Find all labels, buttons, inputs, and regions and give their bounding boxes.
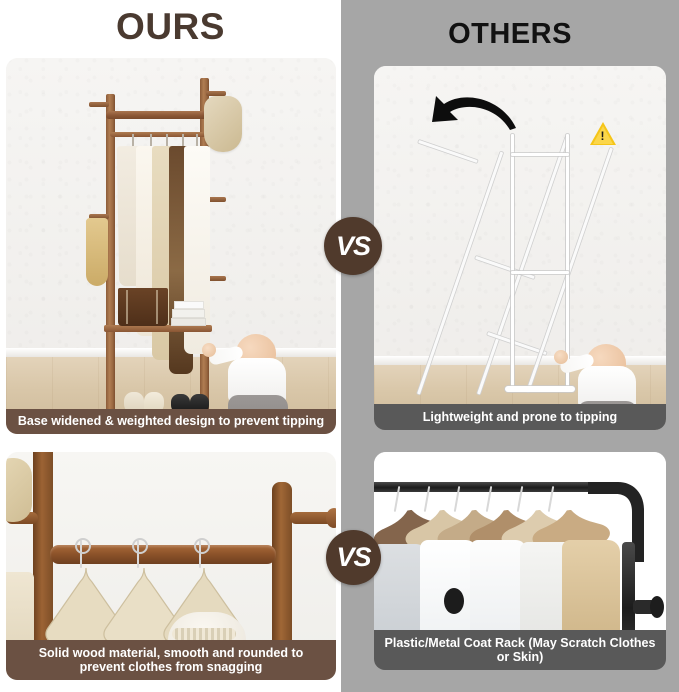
folded-towel-bottom	[171, 318, 206, 326]
vs-badge-bottom: VS	[326, 530, 381, 585]
panel-others-metal-scene	[374, 452, 666, 658]
adjustment-knob-cap	[650, 596, 664, 618]
folded-towel-top	[174, 301, 204, 309]
caption-others-metal-rack: Plastic/Metal Coat Rack (May Scratch Clo…	[374, 630, 666, 670]
shirt-print-graphic	[444, 588, 464, 614]
page-title-ours: OURS	[0, 6, 341, 48]
caption-ours-wood-detail: Solid wood material, smooth and rounded …	[6, 640, 336, 680]
panel-others-metal-rack	[374, 452, 666, 658]
warning-exclamation: !	[601, 130, 605, 142]
caption-others-tipping: Lightweight and prone to tipping	[374, 404, 666, 430]
garment-bead-trim	[172, 628, 236, 640]
comparison-infographic: OURS OTHERS	[0, 0, 679, 692]
metal-rack-post-left	[511, 134, 514, 392]
panel-others-tipping: !	[374, 66, 666, 430]
metal-rack-top-rail	[511, 153, 569, 156]
hanger-ring-3	[194, 538, 210, 554]
vs-badge-top: VS	[324, 217, 382, 275]
rack-top-rail	[106, 111, 210, 119]
panel-ours-stability	[6, 58, 336, 434]
rack-shelf	[104, 325, 212, 332]
toddler-hand	[202, 343, 216, 357]
hanger-ring-1	[75, 538, 91, 554]
warning-triangle-icon: !	[590, 122, 616, 145]
toddler-hand-right	[554, 350, 568, 364]
folded-towel-middle	[172, 309, 205, 318]
metal-rack-mid-rail	[511, 271, 569, 274]
panel-ours-stability-scene	[6, 58, 336, 434]
caption-ours-stability: Base widened & weighted design to preven…	[6, 409, 336, 434]
hanger-ring-2	[132, 538, 148, 554]
leather-bag-strap-1	[126, 290, 128, 324]
hanging-tote-bag	[86, 218, 108, 286]
metal-rack-narrow-base	[505, 386, 575, 392]
rack-hanging-bar	[110, 132, 208, 137]
rail-rounded-end-cap	[326, 508, 336, 528]
straw-hat	[204, 96, 242, 152]
panel-others-tipping-scene: !	[374, 66, 666, 430]
tipping-arrow-icon	[430, 90, 520, 130]
leather-bag-strap-2	[156, 290, 158, 324]
page-title-others: OTHERS	[341, 18, 679, 51]
hook-left-upper	[89, 102, 109, 107]
straw-hat-edge	[6, 458, 32, 522]
